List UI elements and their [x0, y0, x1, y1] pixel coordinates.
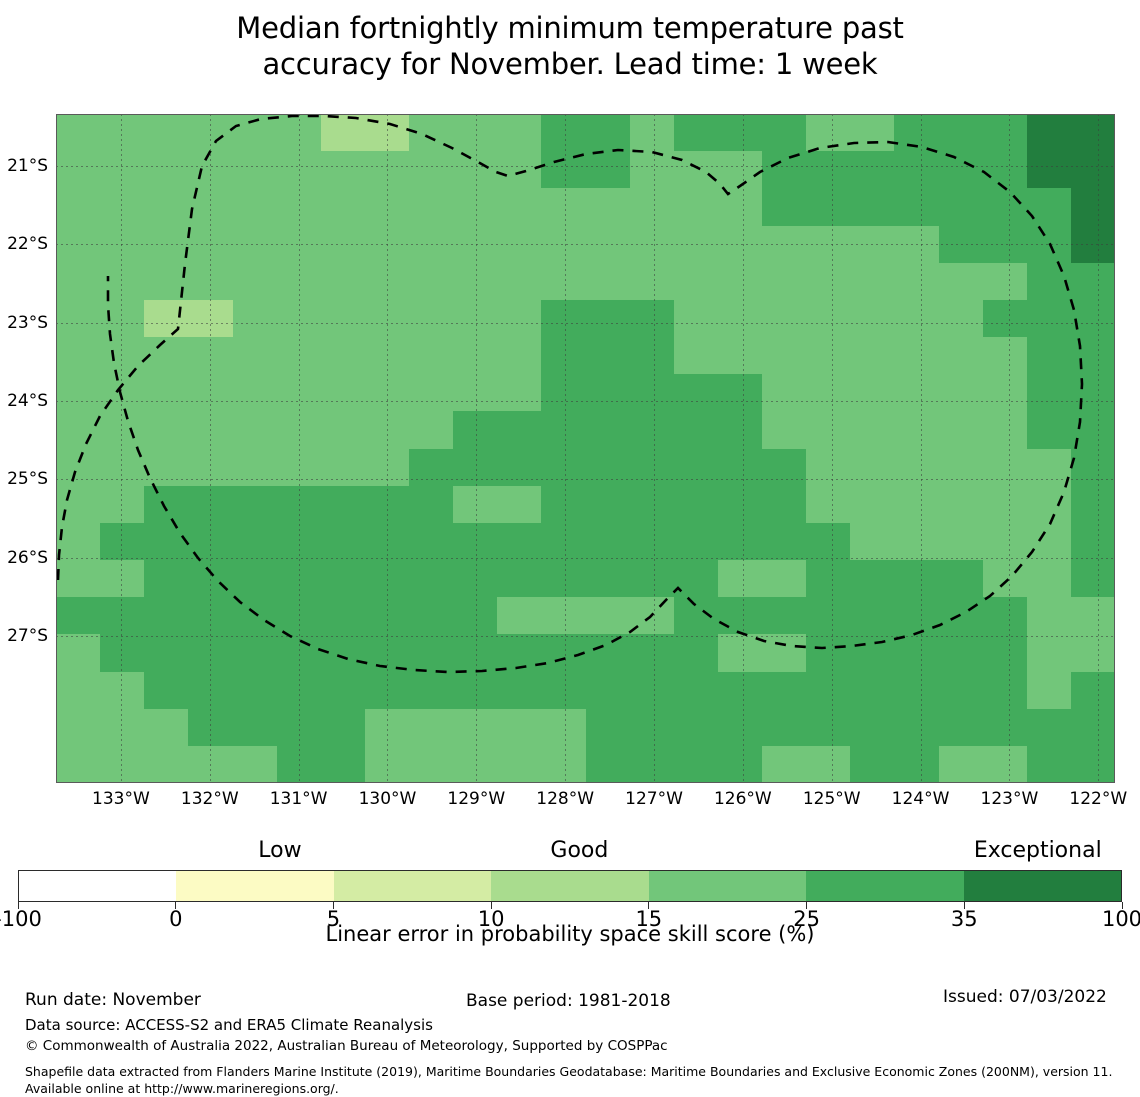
heatmap-cell	[939, 263, 983, 300]
heatmap-cell	[277, 374, 321, 411]
heatmap-cell	[894, 300, 938, 337]
heatmap-cell	[144, 151, 188, 188]
heatmap-cell	[100, 672, 144, 709]
heatmap-cell	[1071, 486, 1115, 523]
heatmap-cell	[277, 634, 321, 671]
heatmap-cell	[1027, 597, 1071, 634]
heatmap-cell	[586, 486, 630, 523]
heatmap-cell	[718, 634, 762, 671]
heatmap-cell	[762, 263, 806, 300]
heatmap-cell	[630, 746, 674, 783]
heatmap-cell	[365, 226, 409, 263]
heatmap-cell	[188, 226, 232, 263]
heatmap-cell	[1027, 672, 1071, 709]
heatmap-cell	[453, 411, 497, 448]
heatmap-cell	[453, 746, 497, 783]
heatmap-cell	[1071, 560, 1115, 597]
heatmap-cell	[541, 672, 585, 709]
heatmap-cell	[321, 597, 365, 634]
heatmap-cell	[850, 151, 894, 188]
heatmap-cell	[983, 263, 1027, 300]
heatmap-cell	[806, 337, 850, 374]
heatmap-cell	[541, 560, 585, 597]
heatmap-cell	[939, 374, 983, 411]
heatmap-cell	[939, 337, 983, 374]
heatmap-cell	[806, 226, 850, 263]
x-axis-tick-label: 126°W	[714, 789, 772, 809]
heatmap-cell	[321, 672, 365, 709]
heatmap-cell	[321, 411, 365, 448]
heatmap-cell	[100, 300, 144, 337]
heatmap-cell	[453, 597, 497, 634]
heatmap-cell	[277, 263, 321, 300]
heatmap-cell	[233, 560, 277, 597]
heatmap-cell	[277, 300, 321, 337]
heatmap-cell	[1027, 337, 1071, 374]
heatmap-cell	[100, 411, 144, 448]
heatmap-cell	[453, 226, 497, 263]
heatmap-cell	[674, 188, 718, 225]
heatmap-cell	[850, 188, 894, 225]
heatmap-cell	[718, 709, 762, 746]
heatmap-cell	[630, 337, 674, 374]
heatmap-cell	[365, 449, 409, 486]
heatmap-cell	[674, 746, 718, 783]
heatmap-cell	[1027, 226, 1071, 263]
heatmap-cell	[409, 374, 453, 411]
heatmap-cell	[277, 746, 321, 783]
page-title: Median fortnightly minimum temperature p…	[0, 10, 1140, 82]
heatmap-cell	[541, 411, 585, 448]
heatmap-cell	[1071, 672, 1115, 709]
heatmap-cell	[497, 486, 541, 523]
x-axis-tick-label: 131°W	[270, 789, 328, 809]
map-plot-area	[56, 114, 1115, 783]
heatmap-cell	[541, 188, 585, 225]
heatmap-cell	[1027, 746, 1071, 783]
heatmap-cell	[365, 151, 409, 188]
heatmap-cell	[850, 672, 894, 709]
heatmap-cell	[321, 263, 365, 300]
heatmap-cell	[762, 746, 806, 783]
heatmap-cell	[1027, 263, 1071, 300]
heatmap-cell	[409, 560, 453, 597]
heatmap-cell	[497, 300, 541, 337]
heatmap-cell	[983, 634, 1027, 671]
heatmap-cell	[277, 151, 321, 188]
x-axis-tick-label: 125°W	[803, 789, 861, 809]
heatmap-cell	[144, 114, 188, 151]
heatmap-cell	[497, 709, 541, 746]
heatmap-cell	[894, 411, 938, 448]
heatmap-cell	[939, 188, 983, 225]
heatmap-cell	[321, 188, 365, 225]
heatmap-cell	[983, 226, 1027, 263]
heatmap-cell	[541, 374, 585, 411]
heatmap-cell	[1027, 634, 1071, 671]
heatmap-cell	[630, 188, 674, 225]
heatmap-cell	[586, 746, 630, 783]
heatmap-cell	[321, 114, 365, 151]
heatmap-cell	[1027, 523, 1071, 560]
heatmap-cell	[586, 560, 630, 597]
heatmap-cell	[144, 337, 188, 374]
heatmap-cell	[718, 672, 762, 709]
heatmap-cell	[233, 486, 277, 523]
heatmap-cell	[762, 337, 806, 374]
heatmap-cell	[983, 746, 1027, 783]
heatmap-cell	[894, 337, 938, 374]
heatmap-cell	[630, 523, 674, 560]
heatmap-cell	[100, 746, 144, 783]
heatmap-cell	[56, 226, 100, 263]
heatmap-cell	[365, 523, 409, 560]
heatmap-cell	[409, 486, 453, 523]
heatmap-cell	[56, 300, 100, 337]
y-axis-tick-label: 24°S	[7, 391, 48, 411]
heatmap-cell	[1071, 300, 1115, 337]
heatmap-cell	[1071, 634, 1115, 671]
heatmap-cell	[453, 188, 497, 225]
heatmap-cell	[100, 597, 144, 634]
heatmap-cell	[497, 523, 541, 560]
heatmap-cell	[409, 709, 453, 746]
heatmap-cell	[850, 374, 894, 411]
heatmap-cell	[762, 709, 806, 746]
heatmap-cell	[321, 523, 365, 560]
heatmap-cell	[718, 411, 762, 448]
heatmap-cell	[277, 337, 321, 374]
heatmap-cell	[277, 597, 321, 634]
heatmap-cell	[674, 449, 718, 486]
heatmap-cell	[939, 486, 983, 523]
heatmap-cell	[674, 114, 718, 151]
heatmap-cell	[1027, 374, 1071, 411]
colorbar-category-label: Exceptional	[974, 838, 1102, 863]
heatmap-cell	[1071, 226, 1115, 263]
heatmap-cell	[409, 523, 453, 560]
heatmap-cell	[983, 411, 1027, 448]
heatmap-cell	[497, 188, 541, 225]
copyright-text: © Commonwealth of Australia 2022, Austra…	[25, 1038, 668, 1054]
heatmap-cell	[497, 560, 541, 597]
heatmap-cell	[233, 300, 277, 337]
heatmap-cell	[630, 709, 674, 746]
heatmap-cell	[674, 374, 718, 411]
colorbar-segment	[491, 871, 648, 901]
heatmap-cell	[365, 560, 409, 597]
heatmap-cell	[321, 709, 365, 746]
heatmap-cell	[409, 337, 453, 374]
y-axis-tick-label: 22°S	[7, 234, 48, 254]
heatmap-cell	[894, 263, 938, 300]
heatmap-cell	[100, 634, 144, 671]
heatmap-cell	[983, 709, 1027, 746]
heatmap-cell	[1027, 449, 1071, 486]
heatmap-cell	[586, 151, 630, 188]
heatmap-cell	[56, 597, 100, 634]
heatmap-cell	[850, 300, 894, 337]
heatmap-cell	[674, 263, 718, 300]
heatmap-cell	[144, 300, 188, 337]
heatmap-cell	[718, 746, 762, 783]
heatmap-cell	[365, 746, 409, 783]
heatmap-cell	[806, 709, 850, 746]
heatmap-cell	[100, 263, 144, 300]
data-source-text: Data source: ACCESS-S2 and ERA5 Climate …	[25, 1016, 433, 1034]
heatmap-cell	[409, 300, 453, 337]
heatmap-cell	[806, 634, 850, 671]
heatmap-cell	[894, 709, 938, 746]
heatmap-cell	[850, 523, 894, 560]
heatmap-cell	[718, 151, 762, 188]
heatmap-cell	[365, 263, 409, 300]
heatmap-cell	[1071, 411, 1115, 448]
heatmap-cell	[541, 523, 585, 560]
heatmap-cell	[100, 114, 144, 151]
heatmap-cell	[850, 449, 894, 486]
heatmap-cell	[321, 746, 365, 783]
heatmap-cell	[409, 634, 453, 671]
base-period-text: Base period: 1981-2018	[466, 991, 671, 1011]
heatmap-cell	[718, 486, 762, 523]
heatmap-cell	[233, 746, 277, 783]
heatmap-cell	[983, 523, 1027, 560]
heatmap-cell	[894, 188, 938, 225]
heatmap-cell	[674, 151, 718, 188]
heatmap-cell	[939, 634, 983, 671]
heatmap-cell	[56, 337, 100, 374]
heatmap-cell	[100, 337, 144, 374]
heatmap-cell	[894, 746, 938, 783]
heatmap-cell	[541, 597, 585, 634]
heatmap-cell	[497, 226, 541, 263]
colorbar-gradient	[18, 870, 1122, 902]
colorbar-category-label: Low	[258, 838, 301, 863]
heatmap-cell	[630, 597, 674, 634]
heatmap-cell	[806, 263, 850, 300]
heatmap-cell	[806, 486, 850, 523]
heatmap-cell	[365, 188, 409, 225]
heatmap-cell	[100, 486, 144, 523]
heatmap-cell	[144, 709, 188, 746]
x-axis-tick-label: 123°W	[981, 789, 1039, 809]
heatmap-cell	[365, 300, 409, 337]
heatmap-cell	[630, 151, 674, 188]
heatmap-cell	[983, 672, 1027, 709]
heatmap-cell	[1071, 337, 1115, 374]
heatmap-cell	[321, 151, 365, 188]
heatmap-cell	[1027, 560, 1071, 597]
y-axis-tick-label: 23°S	[7, 313, 48, 333]
heatmap-cell	[762, 672, 806, 709]
heatmap-cell	[630, 411, 674, 448]
heatmap-cell	[277, 188, 321, 225]
heatmap-cell	[674, 634, 718, 671]
heatmap-cell	[586, 374, 630, 411]
heatmap-cell	[762, 188, 806, 225]
heatmap-cell	[321, 300, 365, 337]
heatmap-cell	[894, 560, 938, 597]
heatmap-cell	[233, 151, 277, 188]
heatmap-cell	[1027, 300, 1071, 337]
heatmap-cell	[762, 300, 806, 337]
heatmap-cell	[365, 374, 409, 411]
heatmap-cell	[409, 114, 453, 151]
heatmap-cell	[233, 597, 277, 634]
heatmap-cell	[233, 523, 277, 560]
heatmap-cell	[321, 486, 365, 523]
heatmap-cell	[586, 114, 630, 151]
heatmap-cell	[939, 523, 983, 560]
heatmap-cell	[806, 746, 850, 783]
heatmap-cell	[453, 672, 497, 709]
heatmap-cell	[1071, 188, 1115, 225]
heatmap-cell	[453, 374, 497, 411]
heatmap-cell	[541, 151, 585, 188]
heatmap-cell	[56, 560, 100, 597]
heatmap-cell	[188, 597, 232, 634]
heatmap-cell	[983, 114, 1027, 151]
heatmap-cell	[894, 151, 938, 188]
heatmap-cell	[939, 672, 983, 709]
heatmap-cell	[409, 151, 453, 188]
heatmap-cell	[497, 597, 541, 634]
heatmap-cell	[541, 114, 585, 151]
heatmap-cell	[541, 263, 585, 300]
heatmap-cell	[144, 634, 188, 671]
heatmap-cell	[983, 597, 1027, 634]
heatmap-cell	[762, 597, 806, 634]
x-axis-tick-label: 130°W	[359, 789, 417, 809]
heatmap-cell	[144, 188, 188, 225]
heatmap-cell	[718, 449, 762, 486]
heatmap-cell	[1027, 151, 1071, 188]
y-axis-tick-label: 27°S	[7, 626, 48, 646]
heatmap-cell	[674, 672, 718, 709]
heatmap-cell	[586, 411, 630, 448]
heatmap-cell	[894, 114, 938, 151]
heatmap-cell	[188, 449, 232, 486]
heatmap-cell	[409, 411, 453, 448]
heatmap-cell	[497, 411, 541, 448]
heatmap-cell	[894, 672, 938, 709]
heatmap-cell	[409, 672, 453, 709]
heatmap-cell	[541, 226, 585, 263]
heatmap-grid	[56, 114, 1115, 783]
heatmap-cell	[674, 300, 718, 337]
heatmap-cell	[939, 746, 983, 783]
heatmap-cell	[188, 523, 232, 560]
heatmap-cell	[321, 449, 365, 486]
heatmap-cell	[586, 337, 630, 374]
colorbar-segment	[964, 871, 1121, 901]
colorbar: LowGoodExceptional -1000510152535100 Lin…	[18, 870, 1122, 928]
heatmap-cell	[453, 560, 497, 597]
heatmap-cell	[100, 151, 144, 188]
heatmap-cell	[674, 560, 718, 597]
heatmap-cell	[497, 263, 541, 300]
heatmap-cell	[100, 523, 144, 560]
heatmap-cell	[630, 672, 674, 709]
heatmap-cell	[321, 560, 365, 597]
heatmap-cell	[233, 337, 277, 374]
heatmap-cell	[806, 300, 850, 337]
heatmap-cell	[409, 263, 453, 300]
heatmap-cell	[188, 374, 232, 411]
heatmap-cell	[233, 449, 277, 486]
x-axis-tick-label: 122°W	[1069, 789, 1127, 809]
colorbar-axis-label: Linear error in probability space skill …	[18, 922, 1122, 946]
heatmap-cell	[233, 709, 277, 746]
heatmap-cell	[497, 151, 541, 188]
heatmap-cell	[1027, 411, 1071, 448]
heatmap-cell	[453, 709, 497, 746]
heatmap-cell	[188, 486, 232, 523]
colorbar-segment	[19, 871, 176, 901]
heatmap-cell	[850, 114, 894, 151]
heatmap-cell	[188, 188, 232, 225]
heatmap-cell	[718, 523, 762, 560]
heatmap-cell	[497, 634, 541, 671]
colorbar-segment	[176, 871, 333, 901]
heatmap-cell	[188, 300, 232, 337]
heatmap-cell	[1071, 263, 1115, 300]
heatmap-cell	[409, 226, 453, 263]
heatmap-cell	[56, 746, 100, 783]
heatmap-cell	[453, 263, 497, 300]
heatmap-cell	[762, 374, 806, 411]
heatmap-cell	[453, 486, 497, 523]
heatmap-cell	[1071, 151, 1115, 188]
heatmap-cell	[850, 263, 894, 300]
heatmap-cell	[983, 300, 1027, 337]
heatmap-cell	[100, 374, 144, 411]
heatmap-cell	[277, 486, 321, 523]
heatmap-cell	[497, 746, 541, 783]
heatmap-cell	[144, 263, 188, 300]
heatmap-cell	[56, 634, 100, 671]
heatmap-cell	[939, 300, 983, 337]
x-axis-tick-label: 127°W	[625, 789, 683, 809]
heatmap-cell	[453, 151, 497, 188]
heatmap-cell	[56, 486, 100, 523]
heatmap-cell	[100, 449, 144, 486]
heatmap-cell	[762, 151, 806, 188]
heatmap-cell	[453, 523, 497, 560]
x-axis-tick-label: 129°W	[447, 789, 505, 809]
heatmap-cell	[277, 411, 321, 448]
heatmap-cell	[894, 449, 938, 486]
heatmap-cell	[277, 226, 321, 263]
heatmap-cell	[144, 597, 188, 634]
heatmap-cell	[850, 746, 894, 783]
heatmap-cell	[674, 523, 718, 560]
heatmap-cell	[939, 411, 983, 448]
heatmap-cell	[497, 449, 541, 486]
run-date-text: Run date: November	[25, 990, 201, 1010]
heatmap-cell	[100, 560, 144, 597]
heatmap-cell	[541, 746, 585, 783]
heatmap-cell	[56, 672, 100, 709]
heatmap-cell	[630, 634, 674, 671]
heatmap-cell	[144, 226, 188, 263]
heatmap-cell	[983, 337, 1027, 374]
heatmap-cell	[144, 411, 188, 448]
heatmap-cell	[1071, 114, 1115, 151]
heatmap-cell	[365, 597, 409, 634]
heatmap-cell	[586, 226, 630, 263]
